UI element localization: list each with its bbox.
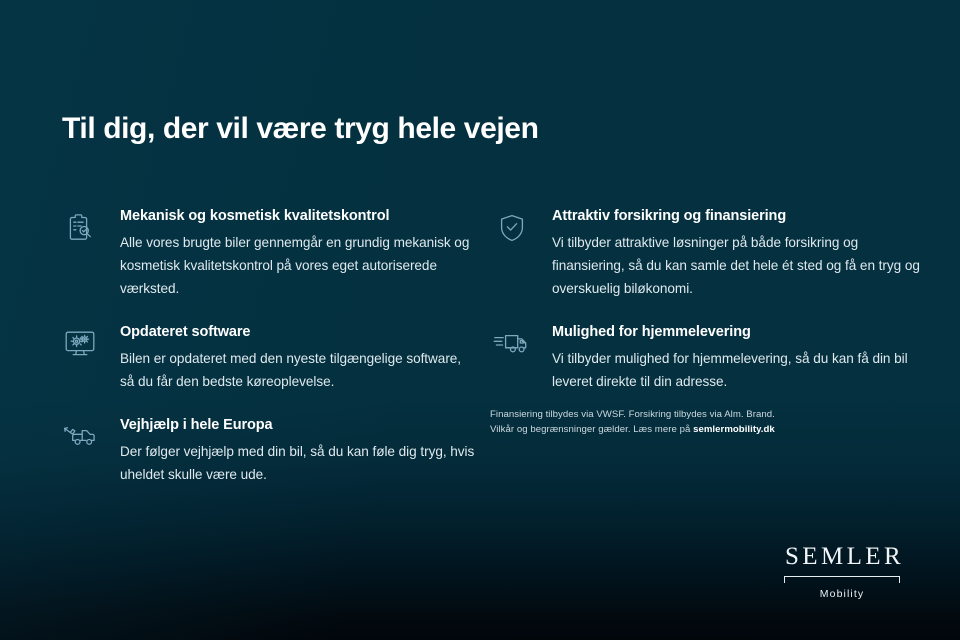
feature-title: Opdateret software [120, 322, 478, 342]
delivery-truck-icon [490, 324, 534, 364]
feature-title: Mulighed for hjemmelevering [552, 322, 920, 342]
shield-check-icon [490, 208, 534, 248]
feature-body: Vi tilbyder mulighed for hjemmelevering,… [552, 347, 920, 393]
feature-title: Mekanisk og kosmetisk kvalitetskontrol [120, 206, 478, 226]
feature-item: Vejhjælp i hele Europa Der følger vejhjæ… [58, 415, 478, 486]
logo-divider [784, 576, 900, 584]
tow-truck-icon [58, 417, 102, 457]
feature-item: Opdateret software Bilen er opdateret me… [58, 322, 478, 393]
fineprint-line-2: Vilkår og begrænsninger gælder. Læs mere… [490, 423, 890, 438]
feature-item: Mekanisk og kosmetisk kvalitetskontrol A… [58, 206, 478, 300]
fineprint-line-1: Finansiering tilbydes via VWSF. Forsikri… [490, 408, 890, 423]
semler-mobility-logo: SEMLER Mobility [782, 543, 902, 600]
clipboard-magnifier-check-icon [58, 208, 102, 248]
feature-body: Bilen er opdateret med den nyeste tilgæn… [120, 347, 478, 393]
feature-title: Attraktiv forsikring og finansiering [552, 206, 920, 226]
feature-column-right: Attraktiv forsikring og finansiering Vi … [490, 206, 920, 415]
feature-body: Der følger vejhjælp med din bil, så du k… [120, 440, 478, 486]
feature-body: Alle vores brugte biler gennemgår en gru… [120, 231, 478, 300]
monitor-gears-icon [58, 324, 102, 364]
feature-title: Vejhjælp i hele Europa [120, 415, 478, 435]
semlermobility-link[interactable]: semlermobility.dk [693, 424, 775, 435]
page-title: Til dig, der vil være tryg hele vejen [62, 112, 539, 146]
slide-content: Til dig, der vil være tryg hele vejen Me… [0, 0, 960, 640]
feature-item: Mulighed for hjemmelevering Vi tilbyder … [490, 322, 920, 393]
logo-wordmark: SEMLER [782, 543, 902, 571]
fineprint: Finansiering tilbydes via VWSF. Forsikri… [490, 408, 890, 437]
fineprint-line-2-text: Vilkår og begrænsninger gælder. Læs mere… [490, 424, 693, 435]
feature-item: Attraktiv forsikring og finansiering Vi … [490, 206, 920, 300]
feature-body: Vi tilbyder attraktive løsninger på både… [552, 231, 920, 300]
logo-subtitle: Mobility [782, 588, 902, 600]
feature-column-left: Mekanisk og kosmetisk kvalitetskontrol A… [58, 206, 478, 508]
